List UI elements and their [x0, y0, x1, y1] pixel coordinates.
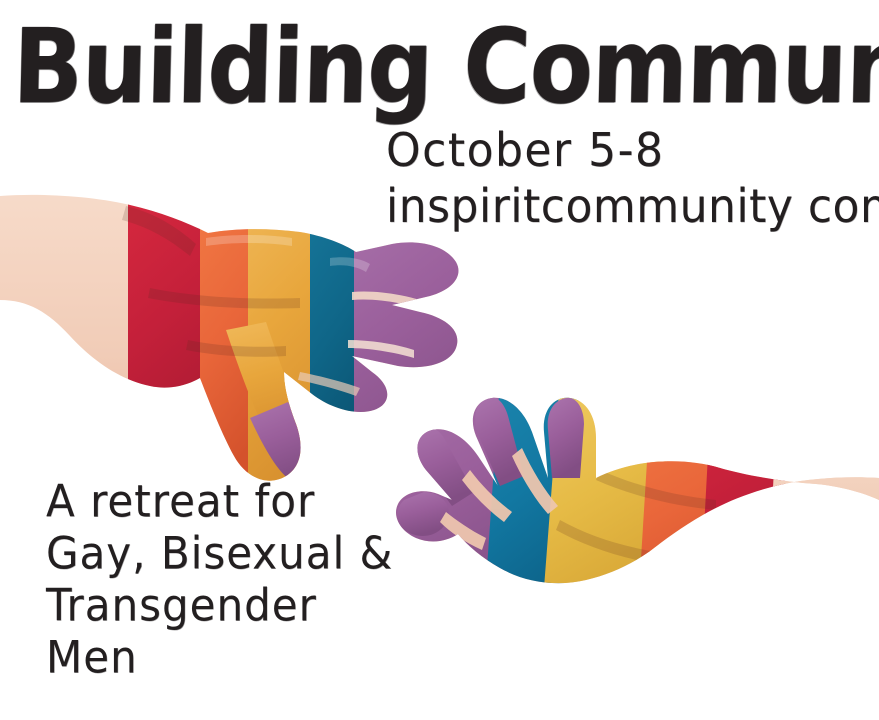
subtitle-line-2: Gay, Bisexual & [46, 526, 393, 581]
subtitle-block: A retreat for Gay, Bisexual & Transgende… [46, 474, 393, 682]
subtitle-line-4: Men [46, 630, 393, 685]
subtitle-line-3: Transgender [46, 578, 393, 633]
subtitle-line-1: A retreat for [46, 474, 393, 529]
page-title: Building Community [12, 16, 879, 119]
event-dates: October 5-8 [386, 124, 664, 178]
right-hand-group [380, 380, 879, 640]
website-url[interactable]: inspiritcommunity com [386, 180, 879, 234]
poster-canvas: Building Community October 5-8 inspiritc… [0, 0, 879, 720]
